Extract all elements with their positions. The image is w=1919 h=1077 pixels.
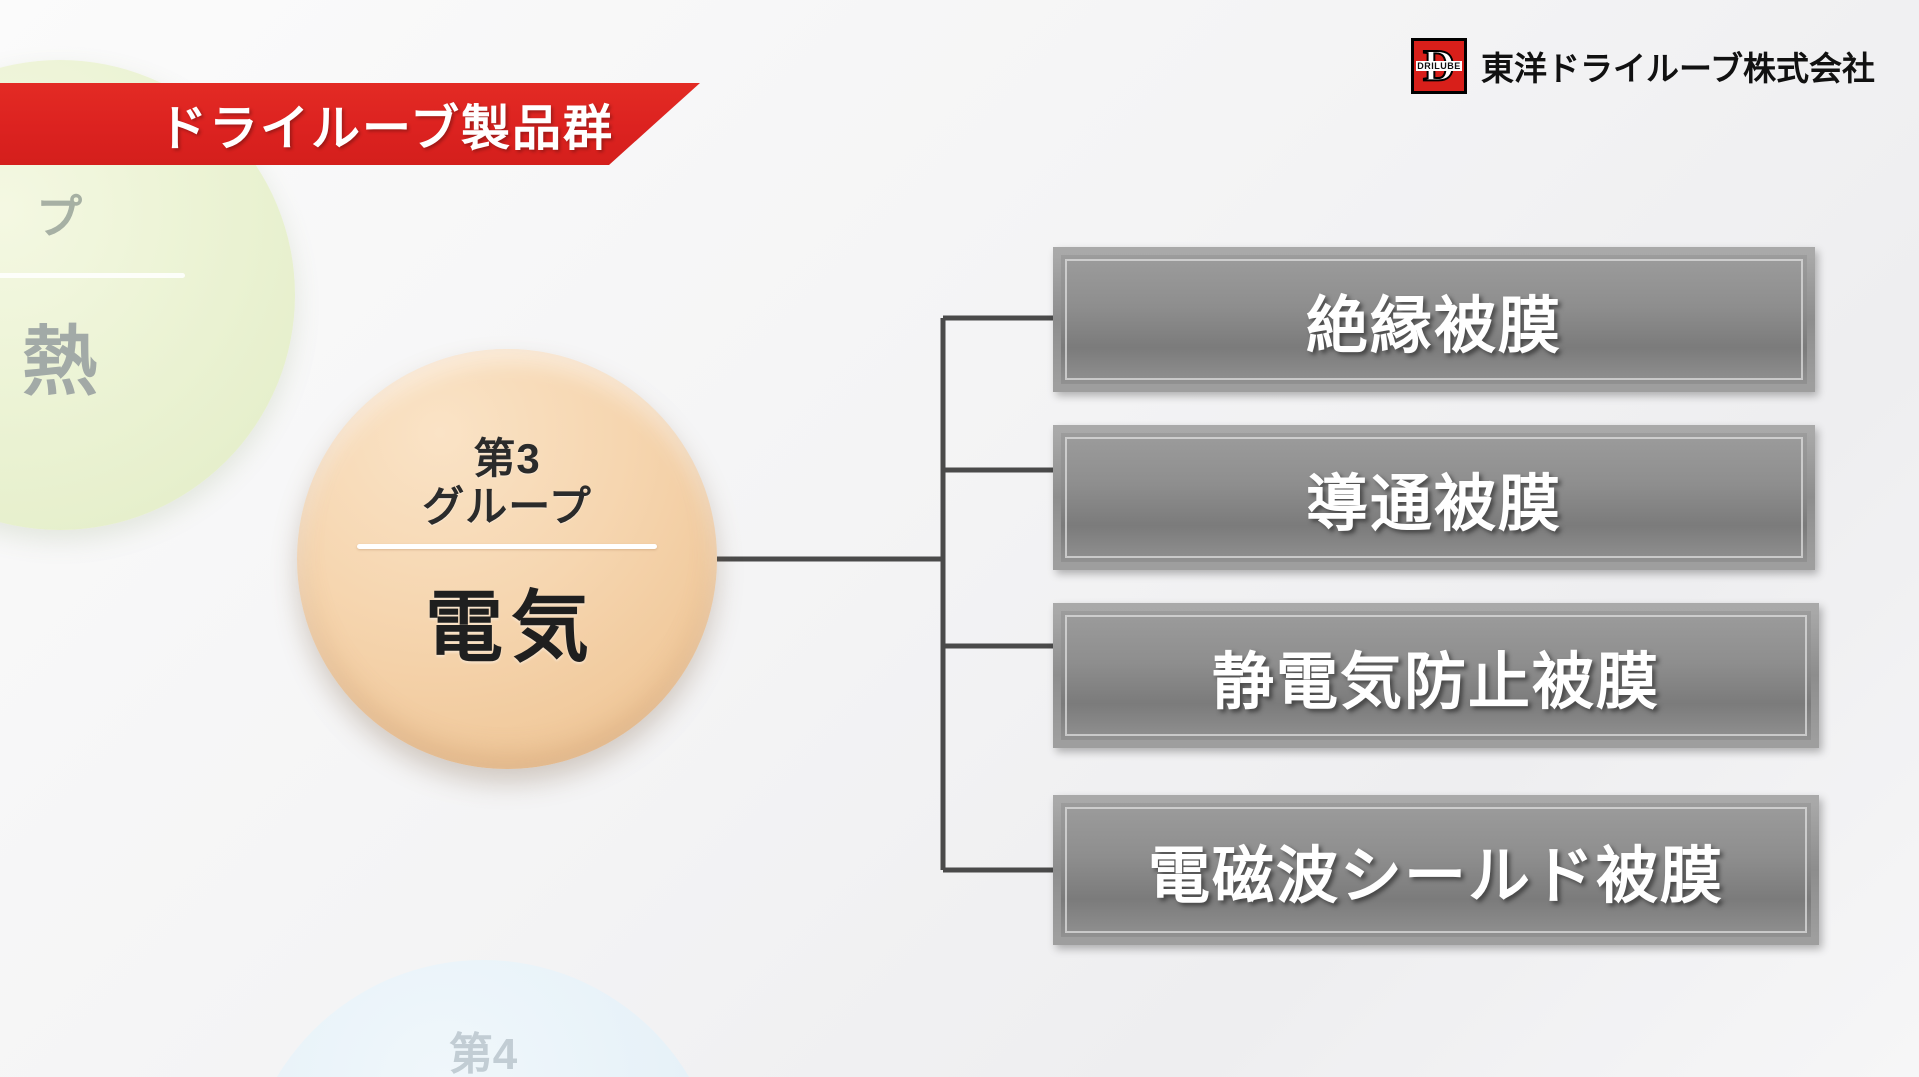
group-node-subtitle-line2: グループ [422, 483, 591, 530]
slide-canvas: プ 熱 第4 ドライルーブ製品群 D DRILUBE 東洋ドライルーブ株式会社 … [0, 0, 1919, 1077]
product-box-emi-shield[interactable]: 電磁波シールド被膜 [1053, 795, 1819, 945]
background-circle-heat-subtitle: プ [36, 181, 84, 247]
title-banner: ドライルーブ製品群 [0, 83, 700, 165]
group-node-electric[interactable]: 第3グループ 電気 [297, 349, 717, 769]
product-label: 導通被膜 [1306, 453, 1562, 543]
company-name: 東洋ドライルーブ株式会社 [1481, 42, 1875, 90]
page-title: ドライルーブ製品群 [158, 89, 614, 160]
product-box-antistatic[interactable]: 静電気防止被膜 [1053, 603, 1819, 748]
drilube-d-icon: D DRILUBE [1411, 38, 1467, 94]
group-node-title: 電気 [417, 565, 597, 677]
product-label: 電磁波シールド被膜 [1148, 825, 1724, 915]
logo-wordmark: DRILUBE [1416, 61, 1462, 71]
group-node-subtitle-line1: 第3 [473, 435, 540, 482]
background-circle-group4-subtitle: 第4 [449, 1018, 517, 1077]
company-logo: D DRILUBE 東洋ドライルーブ株式会社 [1411, 38, 1875, 94]
group-node-divider [357, 544, 657, 549]
background-circle-heat-divider [0, 273, 185, 278]
background-circle-heat-title: 熱 [22, 300, 98, 410]
product-box-conductive[interactable]: 導通被膜 [1053, 425, 1815, 570]
product-label: 絶縁被膜 [1306, 275, 1562, 365]
background-circle-group4: 第4 [243, 960, 723, 1077]
product-box-insulation[interactable]: 絶縁被膜 [1053, 247, 1815, 392]
product-label: 静電気防止被膜 [1212, 631, 1660, 721]
group-node-subtitle: 第3グループ [422, 435, 591, 529]
